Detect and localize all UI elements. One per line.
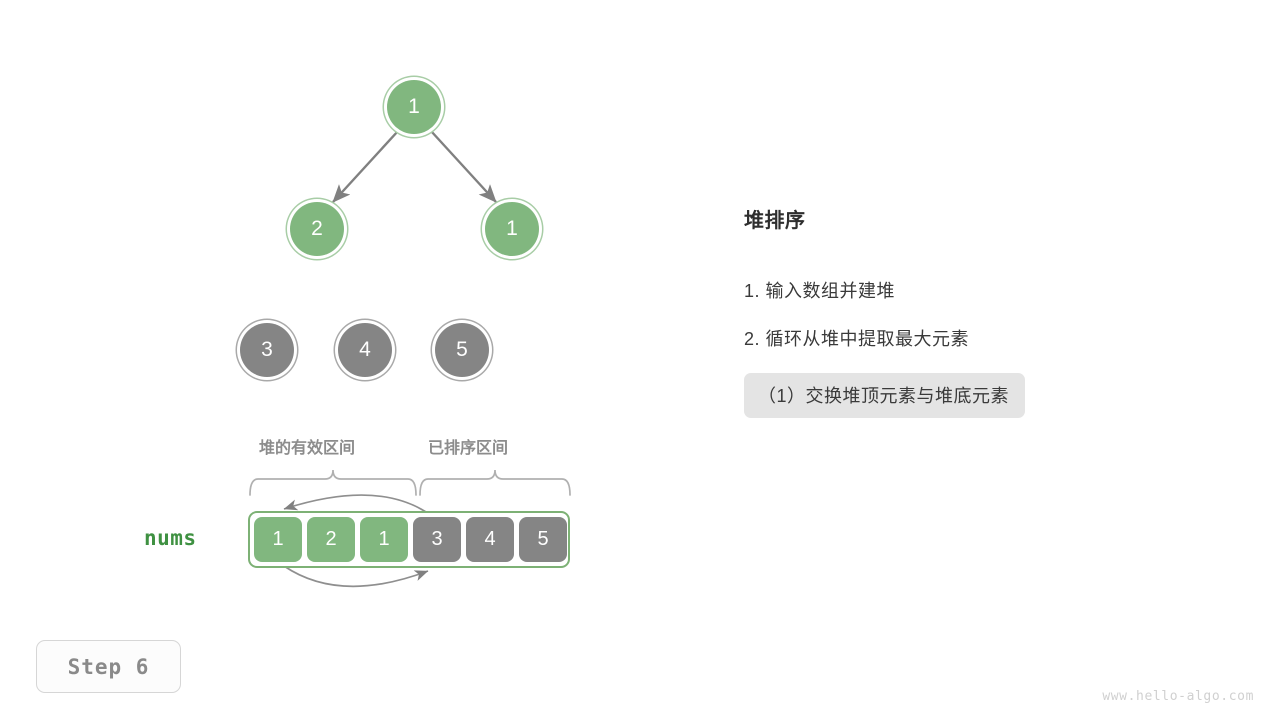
array-container: 1 2 1 3 4 5 — [248, 511, 570, 568]
array-cell: 5 — [519, 517, 567, 562]
label-heap-valid-range: 堆的有效区间 — [259, 434, 355, 458]
watermark: www.hello-algo.com — [1102, 689, 1254, 704]
brace-sorted-range — [420, 470, 570, 495]
label-sorted-range: 已排序区间 — [428, 434, 508, 458]
array-cell: 1 — [360, 517, 408, 562]
page-title: 堆排序 — [744, 204, 1164, 233]
array-variable-label: nums — [144, 526, 197, 550]
step-item-2: 2. 循环从堆中提取最大元素 — [744, 325, 1164, 351]
step-badge: Step 6 — [36, 640, 181, 693]
substep-highlight: （1）交换堆顶元素与堆底元素 — [744, 373, 1025, 418]
tree-node-sorted-3: 5 — [435, 323, 489, 377]
array-cell: 2 — [307, 517, 355, 562]
edge-root-to-left — [333, 131, 398, 202]
array-cell: 4 — [466, 517, 514, 562]
array-cell: 1 — [254, 517, 302, 562]
tree-node-root: 1 — [387, 80, 441, 134]
edge-root-to-right — [431, 131, 496, 202]
swap-arc-bottom — [284, 566, 428, 586]
tree-node-sorted-2: 4 — [338, 323, 392, 377]
tree-node-sorted-1: 3 — [240, 323, 294, 377]
range-braces — [250, 470, 570, 495]
step-item-1: 1. 输入数组并建堆 — [744, 277, 1164, 303]
tree-edges — [333, 131, 496, 202]
array-cell: 3 — [413, 517, 461, 562]
tree-node-right: 1 — [485, 202, 539, 256]
brace-heap-valid-range — [250, 470, 416, 495]
explanation-panel: 堆排序 1. 输入数组并建堆 2. 循环从堆中提取最大元素 （1）交换堆顶元素与… — [744, 204, 1164, 418]
tree-node-left: 2 — [290, 202, 344, 256]
